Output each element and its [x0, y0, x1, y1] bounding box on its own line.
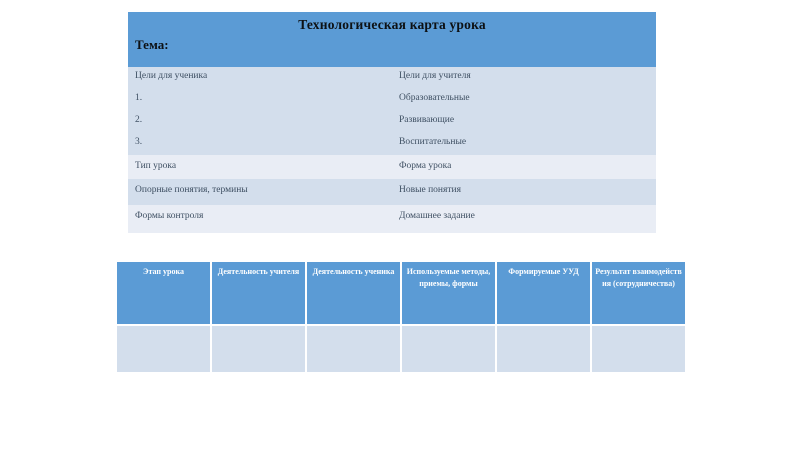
cell-goal-2: 2. — [128, 111, 392, 133]
cell-base-concepts: Опорные понятия, термины — [128, 179, 392, 205]
cell-control-forms: Формы контроля — [128, 205, 392, 233]
lesson-plan-top-table: Технологическая карта урока Тема: Цели д… — [128, 12, 656, 233]
cell-goal-3: 3. — [128, 133, 392, 155]
page-title: Технологическая карта урока — [128, 17, 656, 33]
cell-uud[interactable] — [497, 326, 592, 372]
cell-goals-student-header: Цели для ученика — [128, 67, 392, 89]
table-row: Формы контроля Домашнее задание — [128, 205, 656, 233]
cell-teacher-activity[interactable] — [212, 326, 307, 372]
cell-goal-1: 1. — [128, 89, 392, 111]
column-header-uud: Формируемые УУД — [497, 262, 592, 324]
cell-methods[interactable] — [402, 326, 497, 372]
lesson-stages-table: Этап урока Деятельность учителя Деятельн… — [117, 262, 685, 372]
top-table-body: Цели для ученика Цели для учителя 1. Обр… — [128, 67, 656, 233]
subject-label: Тема: — [135, 37, 169, 53]
table-row: Опорные понятия, термины Новые понятия — [128, 179, 656, 205]
table-row: Тип урока Форма урока — [128, 155, 656, 179]
cell-student-activity[interactable] — [307, 326, 402, 372]
column-header-student-activity: Деятельность ученика — [307, 262, 402, 324]
cell-homework: Домашнее задание — [392, 205, 656, 233]
column-header-stage: Этап урока — [117, 262, 212, 324]
cell-lesson-type: Тип урока — [128, 155, 392, 179]
cell-upbringing: Воспитательные — [392, 133, 656, 155]
cell-stage[interactable] — [117, 326, 212, 372]
cell-developmental: Развивающие — [392, 111, 656, 133]
table-row: 1. Образовательные — [128, 89, 656, 111]
table-row: 2. Развивающие — [128, 111, 656, 133]
table-row — [117, 326, 685, 372]
lesson-stages-header-row: Этап урока Деятельность учителя Деятельн… — [117, 262, 685, 324]
top-table-header-band: Технологическая карта урока Тема: — [128, 12, 656, 67]
table-row: Цели для ученика Цели для учителя — [128, 67, 656, 89]
table-row: 3. Воспитательные — [128, 133, 656, 155]
cell-new-concepts: Новые понятия — [392, 179, 656, 205]
column-header-teacher-activity: Деятельность учителя — [212, 262, 307, 324]
cell-educational: Образовательные — [392, 89, 656, 111]
cell-goals-teacher-header: Цели для учителя — [392, 67, 656, 89]
column-header-result: Результат взаимодействия (сотрудничества… — [592, 262, 685, 324]
cell-lesson-form: Форма урока — [392, 155, 656, 179]
cell-result[interactable] — [592, 326, 685, 372]
column-header-methods: Используемые методы, приемы, формы — [402, 262, 497, 324]
